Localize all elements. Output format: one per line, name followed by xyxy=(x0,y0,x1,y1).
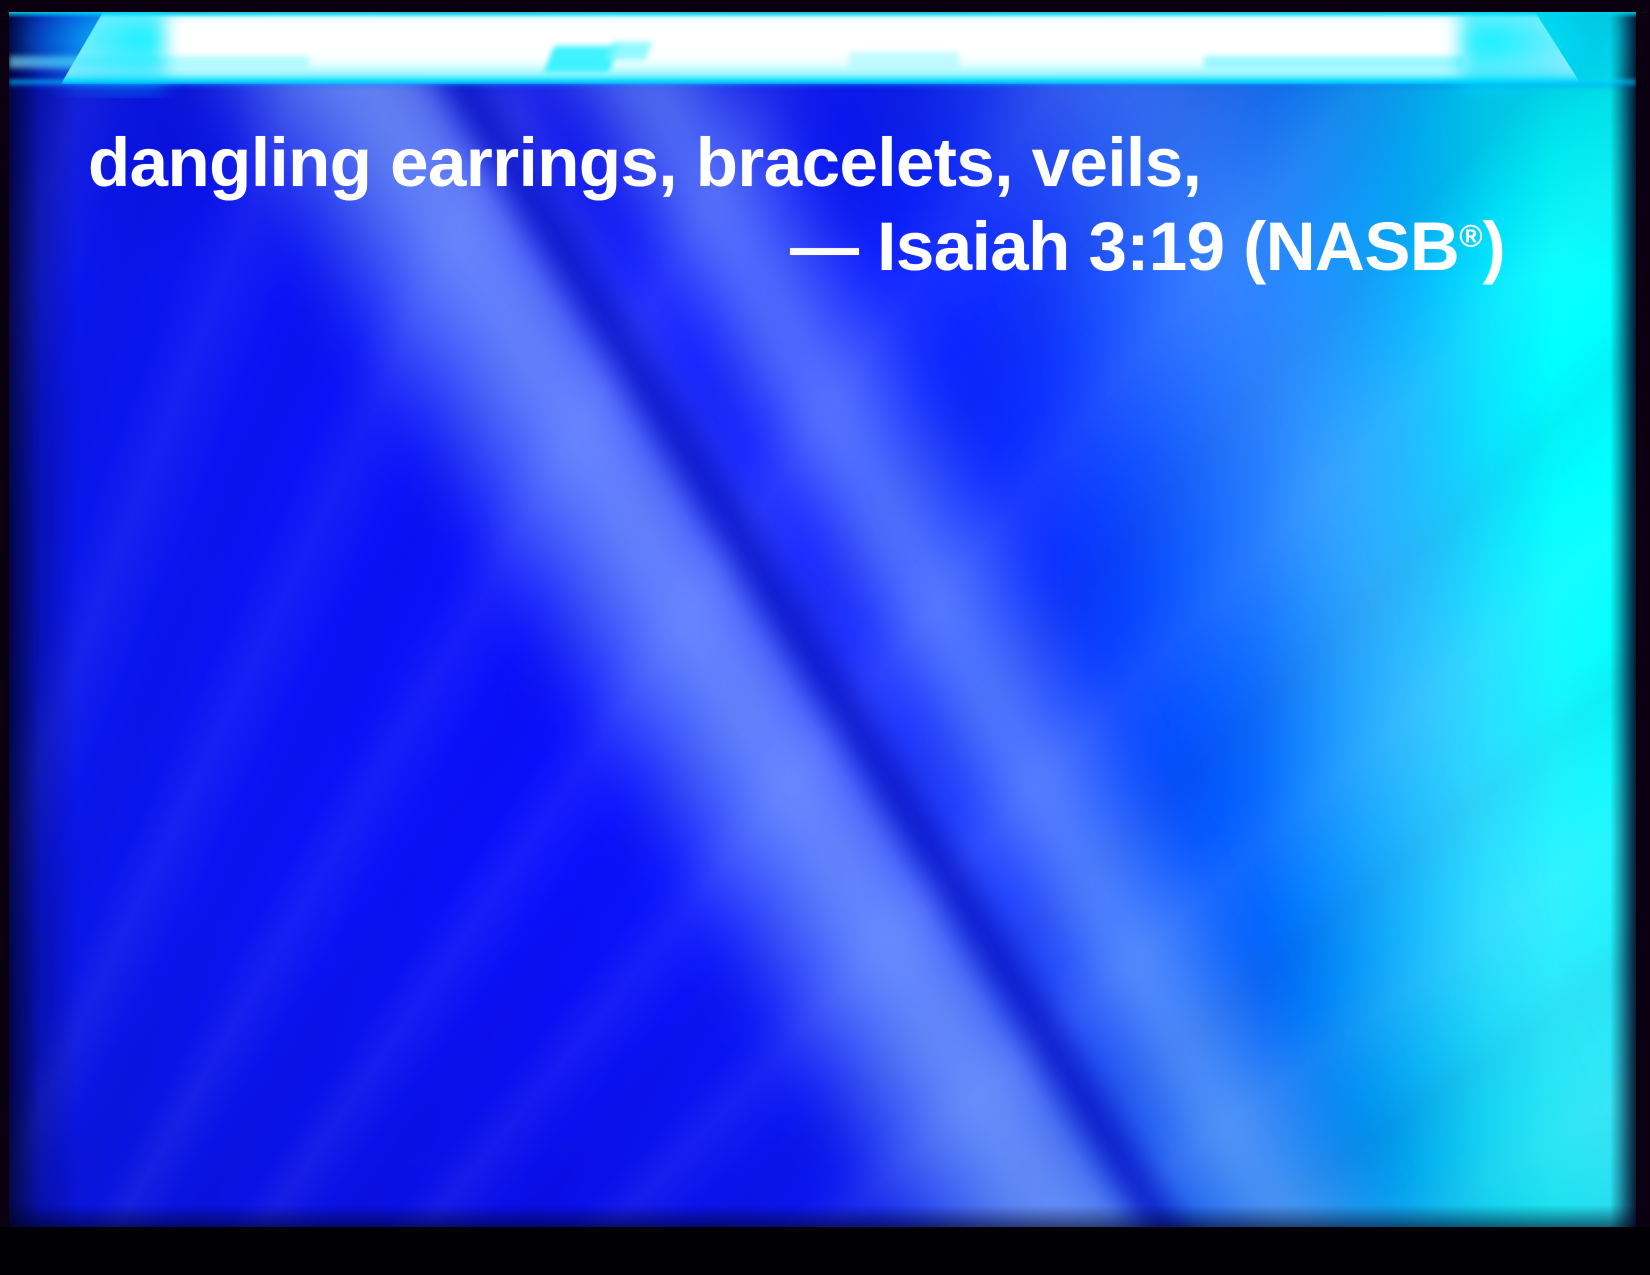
frame-border-bottom xyxy=(0,1227,1650,1275)
slide-background-image xyxy=(9,12,1636,1227)
highlight-band-core xyxy=(61,12,1581,84)
inner-right-vignette xyxy=(1610,12,1636,1227)
inner-bottom-vignette xyxy=(9,1205,1636,1227)
band-streak xyxy=(849,52,959,68)
frame-border-right xyxy=(1636,0,1650,1275)
highlight-band-bottom-edge xyxy=(9,80,1636,88)
inner-left-vignette xyxy=(9,12,79,1227)
frame-border-left xyxy=(0,0,9,1275)
top-highlight-band xyxy=(9,12,1636,98)
band-streak xyxy=(606,42,653,60)
scripture-slide: dangling earrings, bracelets, veils, — I… xyxy=(0,0,1650,1275)
highlight-band-right-glow xyxy=(1460,12,1630,98)
highlight-band-left-glow xyxy=(15,12,165,98)
band-streak xyxy=(1204,56,1464,69)
frame-border-top xyxy=(0,0,1650,12)
highlight-band-top-edge xyxy=(9,12,1636,18)
